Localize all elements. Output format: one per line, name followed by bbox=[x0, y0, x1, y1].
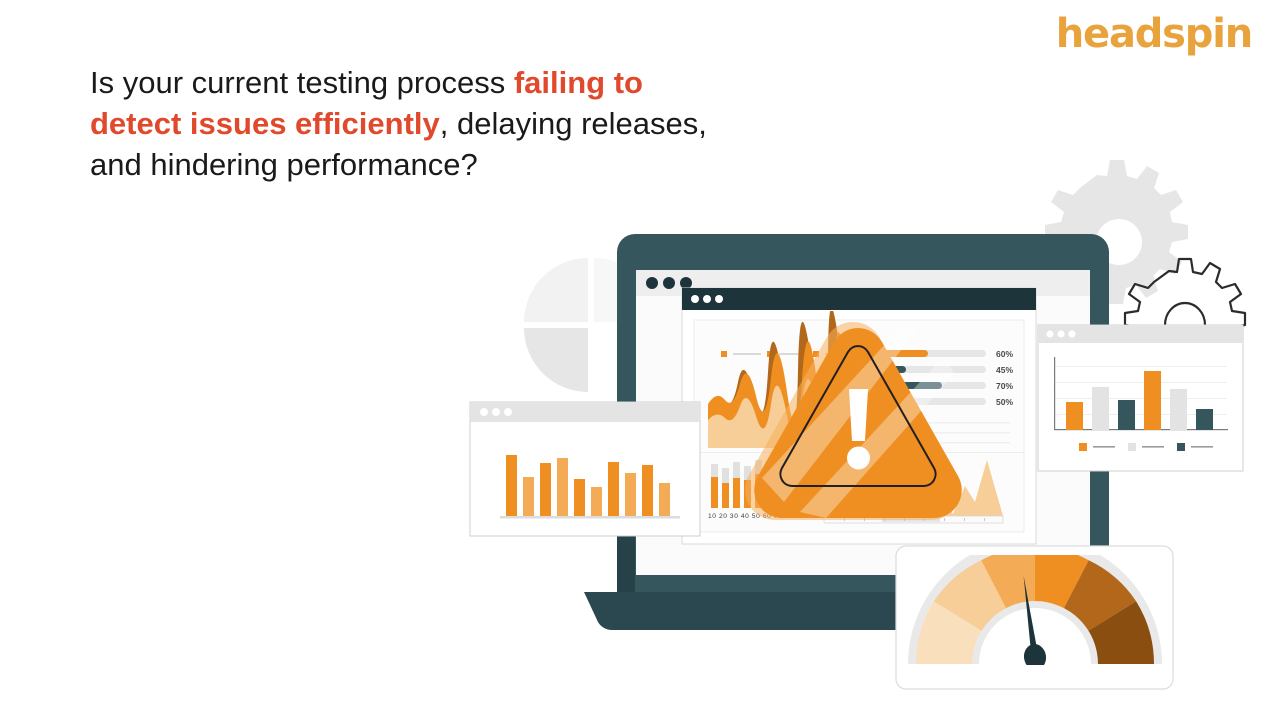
dashboard-column-chart: 10 20 30 40 50 60 70 80 90 100 bbox=[708, 459, 820, 520]
bar-chart-window-right[interactable] bbox=[1038, 325, 1243, 471]
column-axis-ticks: 10 20 30 40 50 60 70 80 90 100 bbox=[708, 513, 820, 520]
page-title: Is your current testing process failing … bbox=[90, 62, 710, 186]
dashboard-progress-bars: 60% 45% 70% 50% bbox=[840, 349, 1013, 407]
headspin-logo: headspin bbox=[1056, 14, 1252, 54]
dashboard-range-slider bbox=[824, 516, 1003, 523]
bar-chart-window-left[interactable] bbox=[470, 402, 700, 536]
left-window-titlebar bbox=[470, 402, 700, 422]
dashboard-wave-chart bbox=[708, 308, 864, 462]
dashboard-browser-window[interactable]: 60% 45% 70% 50% bbox=[682, 288, 1036, 544]
right-window-titlebar bbox=[1038, 325, 1243, 343]
warning-triangle-icon bbox=[745, 322, 962, 520]
pie-decoration bbox=[524, 258, 658, 392]
left-window-bars bbox=[500, 455, 680, 519]
laptop-base bbox=[584, 592, 1120, 630]
progress-label-45: 45% bbox=[996, 365, 1013, 375]
progress-label-70: 70% bbox=[996, 381, 1013, 391]
laptop-device bbox=[617, 234, 1109, 592]
headline-part-1: Is your current testing process bbox=[90, 65, 514, 100]
dashboard-mountain-chart bbox=[824, 460, 1003, 523]
dashboard-legend bbox=[721, 351, 853, 357]
progress-label-60: 60% bbox=[996, 349, 1013, 359]
right-window-legend bbox=[1079, 443, 1213, 451]
progress-label-50: 50% bbox=[996, 397, 1013, 407]
dashboard-titlebar bbox=[682, 288, 1036, 310]
right-window-bars bbox=[1066, 371, 1213, 430]
gauge-needle bbox=[1013, 574, 1048, 671]
gear-outline-icon bbox=[1125, 259, 1245, 379]
gauge-dial bbox=[908, 537, 1162, 671]
right-window-gridlines bbox=[1055, 366, 1227, 415]
gear-filled-icon bbox=[1045, 160, 1188, 304]
performance-gauge-card[interactable] bbox=[896, 537, 1173, 689]
right-window-x-axis bbox=[1054, 429, 1228, 430]
right-window-y-axis bbox=[1054, 357, 1055, 430]
